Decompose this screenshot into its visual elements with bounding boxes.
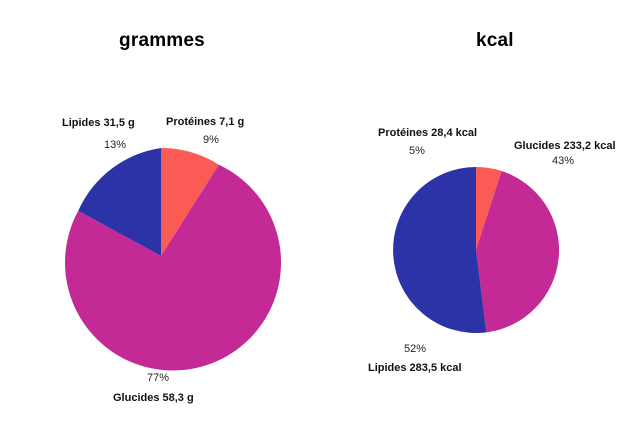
pie-percent-glucides-kcal: 43% xyxy=(552,155,574,167)
chart-panel-kcal: kcal Protéines 28,4 kcal 5% Glucides 233… xyxy=(320,0,639,425)
pie-label-glucides-kcal: Glucides 233,2 kcal xyxy=(514,140,616,152)
pie-label-proteines-grammes: Protéines 7,1 g xyxy=(166,116,244,128)
pie-label-glucides-grammes: Glucides 58,3 g xyxy=(113,392,194,404)
pie-slice-lipides-kcal[interactable] xyxy=(393,167,486,333)
chart-title-kcal: kcal xyxy=(476,30,639,52)
pie-chart-grammes xyxy=(53,148,269,364)
pie-percent-proteines-kcal: 5% xyxy=(409,145,425,157)
chart-title-grammes: grammes xyxy=(2,30,322,52)
pie-percent-proteines-grammes: 9% xyxy=(203,134,219,146)
pie-label-proteines-kcal: Protéines 28,4 kcal xyxy=(378,127,477,139)
pie-label-lipides-kcal: Lipides 283,5 kcal xyxy=(368,362,462,374)
pie-chart-kcal xyxy=(393,167,559,333)
pie-percent-lipides-grammes: 13% xyxy=(104,139,126,151)
pie-label-lipides-grammes: Lipides 31,5 g xyxy=(62,117,135,129)
pie-percent-glucides-grammes: 77% xyxy=(147,372,169,384)
chart-panel-grammes: grammes Lipides 31,5 g 13% Protéines 7,1… xyxy=(0,0,320,425)
pie-percent-lipides-kcal: 52% xyxy=(404,343,426,355)
